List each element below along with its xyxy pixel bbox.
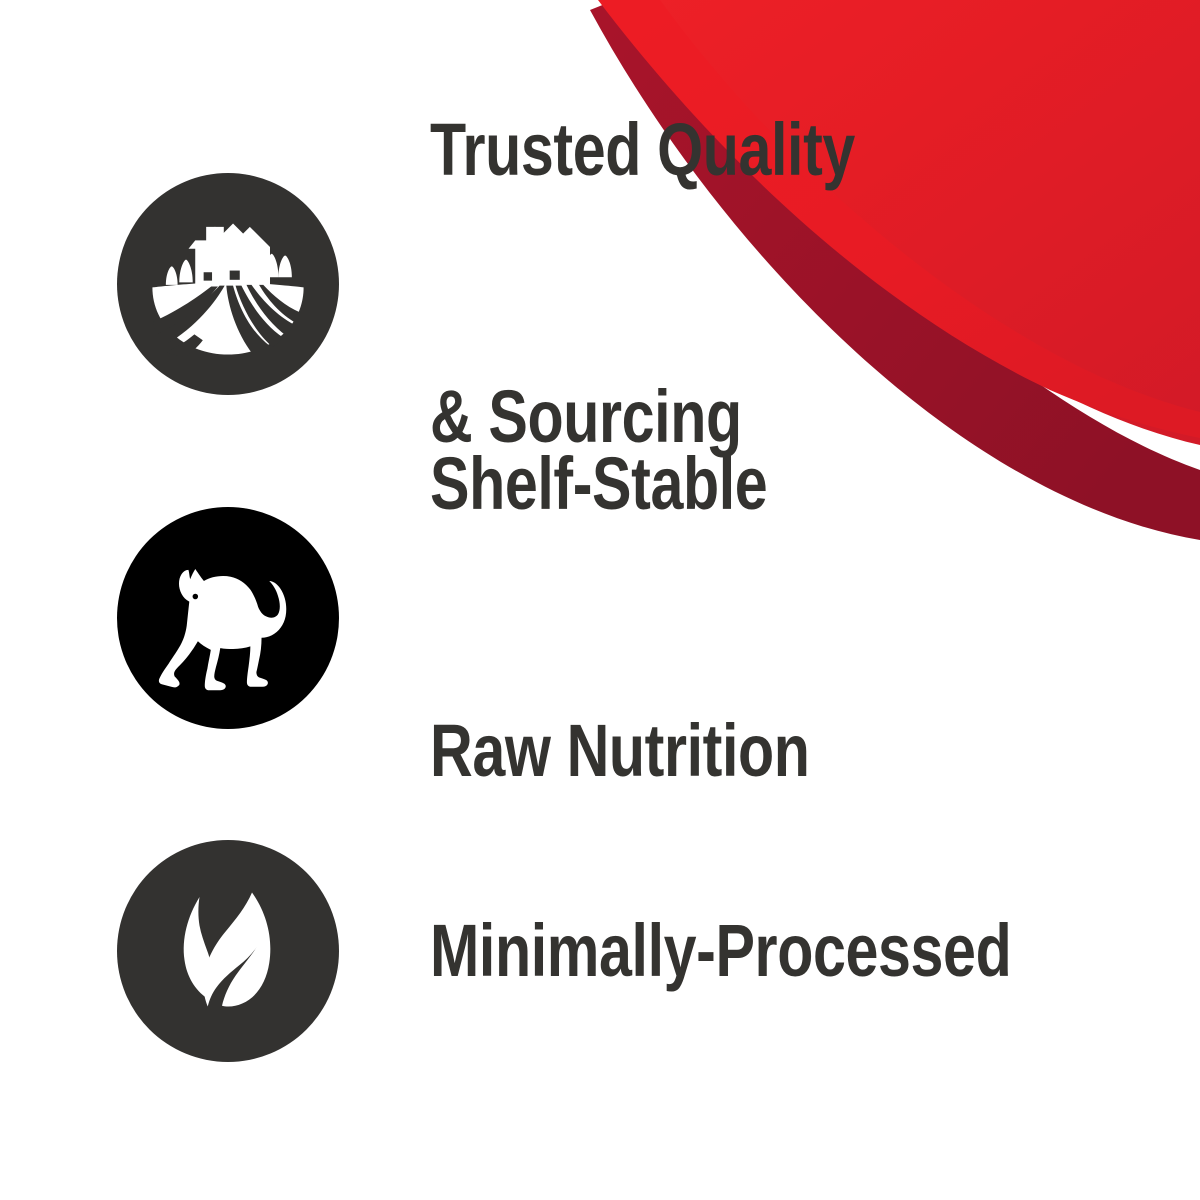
feature-text-minimally-processed: Minimally-Processed xyxy=(430,729,1011,1173)
feature-icon-badge-shelf-stable xyxy=(117,507,339,729)
two-leaves-icon xyxy=(153,876,303,1026)
feature-text-line: Minimally-Processed xyxy=(430,907,1011,996)
feature-callout-panel: Trusted Quality & Sourcing Shelf-Stable … xyxy=(0,0,1200,1200)
feature-row: Shelf-Stable Raw Nutrition xyxy=(0,507,1200,729)
feature-text-line: Trusted Quality xyxy=(430,106,855,195)
farm-barn-field-icon xyxy=(144,200,312,368)
cat-silhouette-icon xyxy=(142,532,314,704)
feature-row: Minimally-Processed xyxy=(0,840,1200,1062)
feature-icon-badge-minimally-processed xyxy=(117,840,339,1062)
feature-icon-badge-trusted-quality xyxy=(117,173,339,395)
feature-text-line: Shelf-Stable xyxy=(430,440,810,529)
